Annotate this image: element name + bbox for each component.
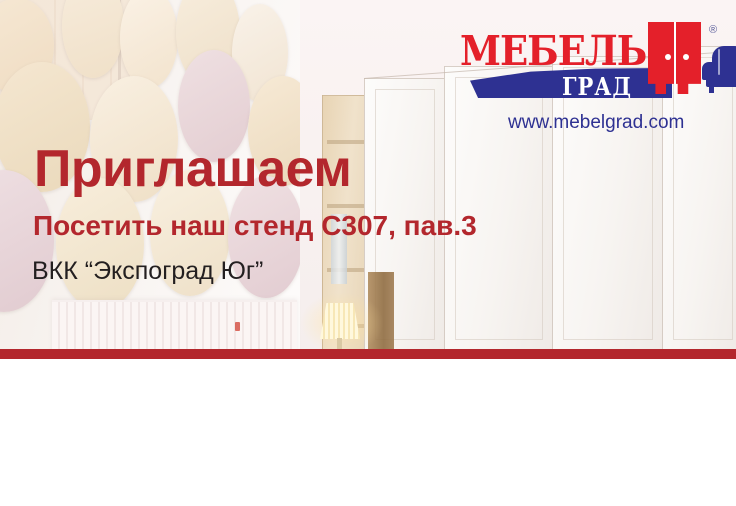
table-lamp-stem: [337, 338, 342, 349]
cabinet-icon-divider: [674, 22, 676, 84]
cabinet-handle-right-icon: [683, 54, 689, 60]
headline: Приглашаем: [34, 143, 351, 195]
cabinet-handle-left-icon: [665, 54, 671, 60]
cabinet-door-2: [444, 66, 554, 349]
stand-subheadline: Посетить наш стенд С307, пав.3: [33, 212, 477, 240]
table-lamp-shade: [320, 303, 360, 339]
footer-strip: UMIDS 7-10 апреля 2026 г. г. Краснодар: [0, 359, 736, 506]
mebelgrad-logo[interactable]: МЕБЕЛЬ ГРАД ®: [452, 24, 724, 100]
mebelgrad-wordmark-top: МЕБЕЛЬ: [460, 26, 646, 75]
radiator: [52, 300, 297, 349]
mebelgrad-wordmark-bottom: ГРАД: [562, 72, 632, 101]
website-url[interactable]: www.mebelgrad.com: [508, 112, 684, 134]
armchair-icon: [702, 46, 736, 94]
venue-name: ВКК “Экспоград Юг”: [32, 259, 263, 284]
registered-trademark-icon: ®: [709, 24, 717, 36]
advertisement-banner: МЕБЕЛЬ ГРАД ® www.mebelgrad.com Приглаша…: [0, 0, 736, 506]
red-divider-bar: [0, 349, 736, 359]
showroom-photo: МЕБЕЛЬ ГРАД ® www.mebelgrad.com Приглаша…: [0, 0, 736, 349]
radiator-valve: [235, 322, 240, 331]
